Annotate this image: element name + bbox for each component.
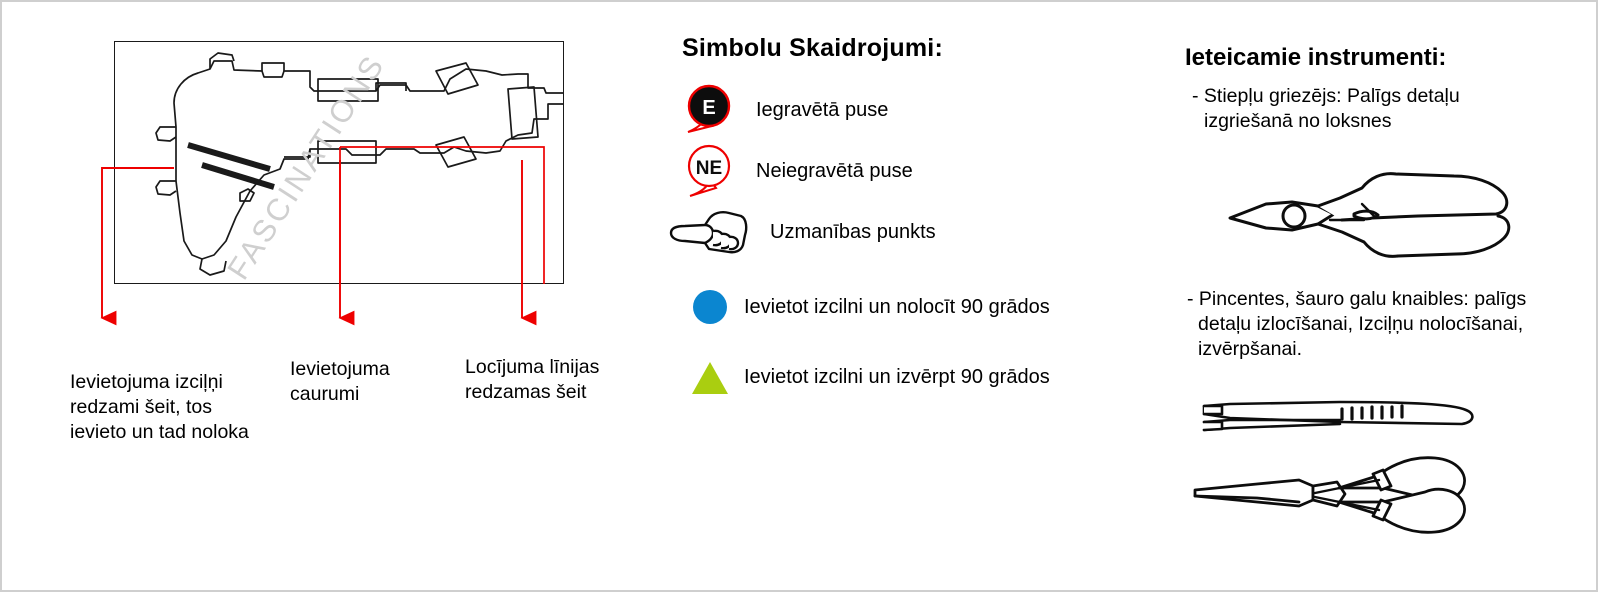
callout-tabs-here: Ievietojuma izciļņi redzami šeit, tos ie…: [70, 370, 260, 445]
legend-label-fold-90: Ievietot izcilni un nolocīt 90 grādos: [744, 295, 1050, 319]
legend-item-twist-90: Ievietot izcilni un izvērpt 90 grādos: [682, 357, 1050, 397]
green-triangle-icon: [682, 357, 738, 397]
instruction-sheet: FASCINATIONS Ievietojuma izciļņi redzami…: [0, 0, 1598, 592]
legend-label-twist-90: Ievietot izcilni un izvērpt 90 grādos: [744, 365, 1050, 389]
legend-item-engraved-side: E Iegravētā puse: [672, 82, 888, 138]
tools-title: Ieteicamie instrumenti:: [1185, 44, 1446, 72]
technical-drawing-panel: FASCINATIONS Ievietojuma izciļņi redzami…: [2, 2, 642, 594]
tool-description-wire-cutter: - Stiepļu griezējs: Palīgs detaļu izgrie…: [1192, 84, 1544, 134]
callout-fold-lines: Locījuma līnijas redzamas šeit: [465, 355, 645, 405]
wire-cutter-illustration: [1222, 162, 1522, 272]
non-engraved-side-badge-icon: NE: [672, 142, 744, 200]
tool-description-pliers-tweezers: - Pincentes, šauro galu knaibles: palīgs…: [1187, 287, 1548, 362]
callout-leader-lines: [62, 122, 582, 362]
tweezers-illustration: [1190, 392, 1490, 442]
legend-label-non-engraved-side: Neiegravētā puse: [756, 159, 913, 183]
blue-circle-icon: [682, 287, 738, 327]
legend-label-attention-point: Uzmanības punkts: [770, 220, 936, 244]
legend-title: Simbolu Skaidrojumi:: [682, 34, 943, 63]
non-engraved-badge-text: NE: [696, 158, 722, 179]
legend-label-engraved-side: Iegravētā puse: [756, 98, 888, 122]
symbol-legend-panel: Simbolu Skaidrojumi: E Iegravētā puse NE…: [642, 2, 1162, 594]
legend-item-non-engraved-side: NE Neiegravētā puse: [672, 142, 913, 200]
callout-insertion-holes: Ievietojuma caurumi: [290, 357, 460, 407]
engraved-badge-text: E: [702, 97, 715, 119]
engraved-side-badge-icon: E: [672, 82, 744, 138]
legend-item-attention-point: Uzmanības punkts: [664, 207, 936, 257]
pointing-hand-icon: [664, 207, 752, 257]
needle-nose-pliers-illustration: [1187, 450, 1587, 560]
recommended-tools-panel: Ieteicamie instrumenti: - Stiepļu griezē…: [1162, 2, 1598, 594]
legend-item-fold-90: Ievietot izcilni un nolocīt 90 grādos: [682, 287, 1050, 327]
